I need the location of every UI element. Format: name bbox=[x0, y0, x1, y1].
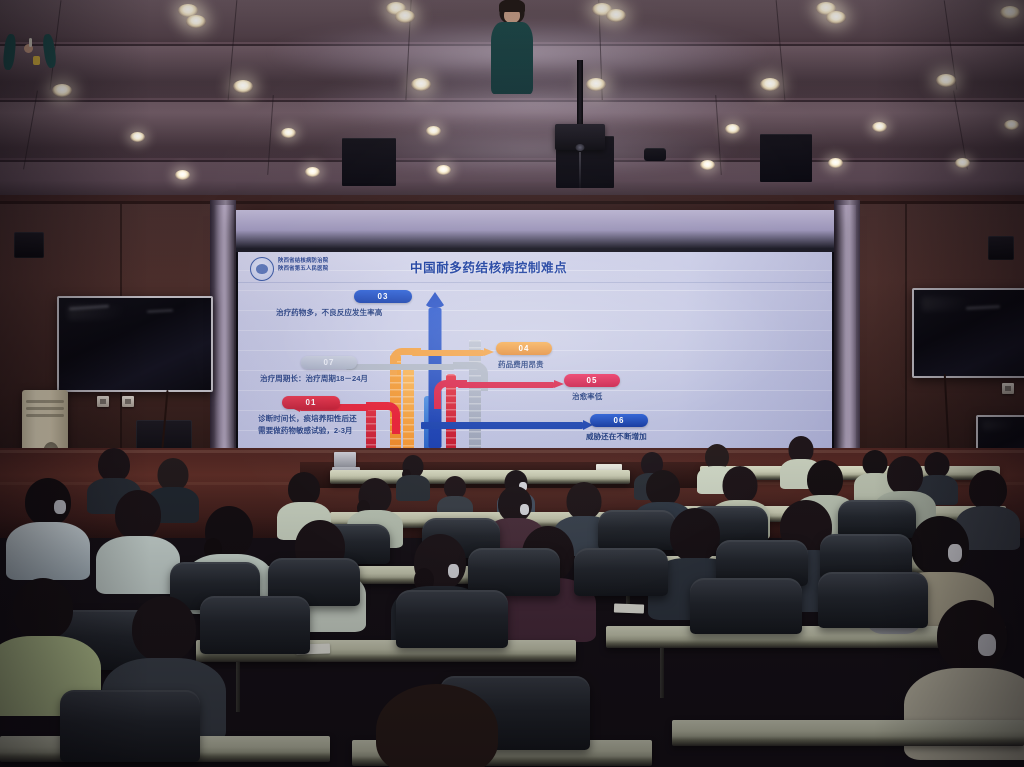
chair bbox=[690, 578, 802, 634]
ceiling-vent bbox=[760, 134, 812, 182]
attendee bbox=[16, 478, 80, 572]
bar-orange-inner bbox=[403, 368, 414, 448]
ceiling-spotlight bbox=[936, 74, 956, 87]
arrow-blue-right bbox=[421, 420, 583, 429]
ceiling-spotlight bbox=[700, 160, 715, 170]
chair bbox=[200, 596, 310, 654]
attendee bbox=[352, 684, 522, 767]
elbow-red bbox=[366, 402, 400, 434]
org-line-2: 陕西省第五人民医院 bbox=[278, 266, 328, 274]
arrow-orange-right bbox=[412, 348, 484, 357]
wall-display-right[interactable] bbox=[912, 288, 1024, 378]
slide-canvas: 陕西省结核病防治院 陕西省第五人民医院 中国耐多药结核病控制难点 bbox=[238, 252, 832, 448]
ceiling-spotlight bbox=[606, 9, 626, 22]
ceiling-spotlight bbox=[828, 158, 843, 168]
arrow-gray-left bbox=[348, 362, 454, 371]
desk-leg bbox=[236, 662, 240, 712]
slide-caption-01-line1: 诊断时间长，痰培养阳性后还 bbox=[258, 414, 357, 425]
pillar-light-right bbox=[836, 205, 856, 480]
attendee bbox=[398, 455, 428, 497]
ceiling-sensor bbox=[644, 148, 666, 161]
slide-caption-01-line2: 需要做药物敏感试验，2-3月 bbox=[258, 426, 353, 437]
ceiling-spotlight bbox=[426, 126, 441, 136]
ceiling-spotlight bbox=[725, 124, 740, 134]
chair bbox=[396, 590, 508, 648]
ceiling-spotlight bbox=[872, 122, 887, 132]
organization-name: 陕西省结核病防治院 陕西省第五人民医院 bbox=[278, 258, 328, 273]
wall-speaker-right bbox=[988, 236, 1014, 260]
ceiling-spotlight bbox=[281, 128, 296, 138]
ceiling-spotlight bbox=[130, 132, 145, 142]
desk-leg bbox=[660, 648, 664, 698]
lecture-hall-photo: 陕西省结核病防治院 陕西省第五人民医院 中国耐多药结核病控制难点 bbox=[0, 0, 1024, 767]
ceiling-spotlight bbox=[411, 78, 431, 91]
slide-caption-06: 威胁还在不断增加 bbox=[586, 432, 647, 443]
wall-outlet[interactable] bbox=[97, 396, 109, 407]
ceiling-spotlight bbox=[233, 80, 253, 93]
header-divider bbox=[238, 282, 832, 283]
ceiling-spotlight bbox=[826, 11, 846, 24]
org-line-1: 陕西省结核病防治院 bbox=[278, 258, 328, 266]
projection-screen: 陕西省结核病防治院 陕西省第五人民医院 中国耐多药结核病控制难点 bbox=[236, 210, 834, 450]
desk-row-e3 bbox=[672, 720, 1024, 746]
attendee bbox=[0, 578, 86, 708]
arrow-crimson-right bbox=[458, 380, 554, 389]
microphone-icon bbox=[29, 38, 32, 47]
chair bbox=[818, 572, 928, 628]
slide-tag-05: 05 bbox=[564, 374, 620, 387]
wall-speaker-left bbox=[14, 232, 44, 258]
ceiling-spotlight bbox=[52, 84, 72, 97]
slide-header: 陕西省结核病防治院 陕西省第五人民医院 中国耐多药结核病控制难点 bbox=[238, 252, 832, 282]
wall-outlet[interactable] bbox=[122, 396, 134, 407]
ceiling-spotlight bbox=[760, 78, 780, 91]
slide-caption-07: 治疗周期长：治疗周期18－24月 bbox=[260, 374, 368, 385]
attendee bbox=[106, 490, 170, 586]
screen-top-bezel bbox=[236, 210, 834, 252]
slide-tag-06: 06 bbox=[590, 414, 648, 427]
ceiling-spotlight bbox=[1000, 6, 1020, 19]
chair bbox=[468, 548, 560, 596]
ceiling-projector bbox=[544, 60, 616, 145]
wall-outlet[interactable] bbox=[1002, 383, 1014, 394]
ceiling-spotlight bbox=[395, 10, 415, 23]
wall-display-left[interactable] bbox=[57, 296, 213, 392]
slide-title: 中国耐多药结核病控制难点 bbox=[410, 257, 567, 276]
slide-caption-05: 治愈率低 bbox=[572, 392, 602, 403]
ceiling-spotlight bbox=[175, 170, 190, 180]
ceiling-spotlight bbox=[955, 158, 970, 168]
presenter-hand-badge bbox=[33, 56, 40, 65]
ceiling-vent bbox=[342, 138, 396, 186]
ceiling-spotlight bbox=[186, 15, 206, 28]
slide-tag-03: 03 bbox=[354, 290, 412, 303]
slide-tag-04: 04 bbox=[496, 342, 552, 355]
slide-tag-07: 07 bbox=[301, 356, 357, 369]
slide-caption-04: 药品费用昂贵 bbox=[498, 360, 544, 371]
ceiling-spotlight bbox=[436, 165, 451, 175]
hospital-logo-icon bbox=[250, 257, 274, 281]
slide-tag-01: 01 bbox=[282, 396, 340, 409]
chair bbox=[574, 548, 668, 596]
ceiling-spotlight bbox=[305, 167, 320, 177]
slide-caption-03: 治疗药物多，不良反应发生率高 bbox=[276, 308, 382, 319]
chair bbox=[60, 690, 200, 762]
ceiling-spotlight bbox=[1004, 120, 1019, 130]
attendee-papers bbox=[614, 603, 644, 613]
